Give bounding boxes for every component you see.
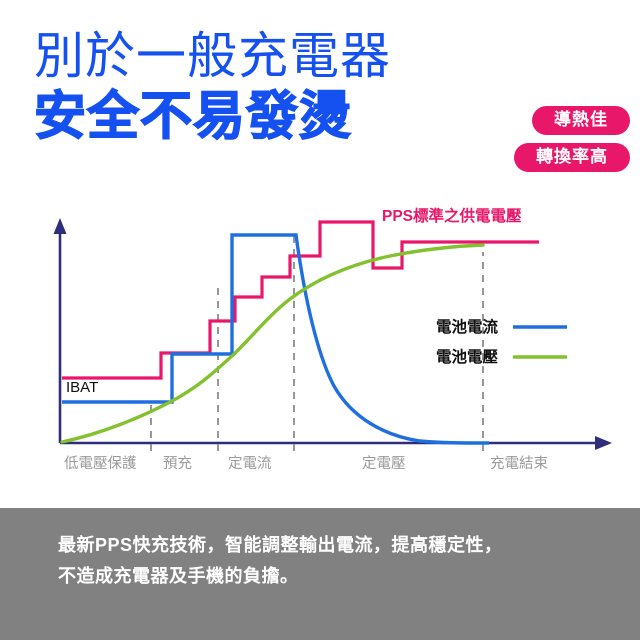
badge-efficiency: 轉換率高 bbox=[514, 143, 630, 172]
headline-line-2: 安全不易發燙 bbox=[34, 88, 504, 146]
headline-line-1: 別於一般充電器 bbox=[34, 28, 504, 84]
stage-label-cc: 定電流 bbox=[228, 455, 272, 472]
legend-label-voltage: 電池電壓 bbox=[436, 347, 499, 366]
ibat-label: IBAT bbox=[66, 379, 98, 396]
series-battery-voltage bbox=[62, 245, 483, 442]
caption-line-2: 不造成充電器及手機的負擔。 bbox=[58, 561, 598, 592]
stage-label-low-voltage: 低電壓保護 bbox=[64, 455, 137, 472]
headline-block: 別於一般充電器 安全不易發燙 bbox=[34, 28, 504, 146]
stage-label-cv: 定電壓 bbox=[362, 455, 406, 472]
pps-annotation-label: PPS標準之供電電壓 bbox=[382, 206, 522, 225]
chart-legend: 電池電流 電池電壓 bbox=[436, 317, 567, 366]
badge-thermal: 導熱佳 bbox=[532, 106, 630, 135]
legend-label-current: 電池電流 bbox=[436, 317, 499, 336]
caption-text: 最新PPS快充技術，智能調整輸出電流，提高穩定性， 不造成充電器及手機的負擔。 bbox=[58, 530, 598, 592]
stage-labels: 低電壓保護 預充 定電流 定電壓 充電結束 bbox=[64, 455, 548, 472]
infographic-root: 別於一般充電器 安全不易發燙 導熱佳 轉換率高 IBAT P bbox=[0, 0, 640, 640]
stage-label-complete: 充電結束 bbox=[490, 455, 548, 472]
badge-list: 導熱佳 轉換率高 bbox=[514, 106, 630, 172]
caption-line-1: 最新PPS快充技術，智能調整輸出電流，提高穩定性， bbox=[58, 530, 598, 561]
series-battery-current bbox=[62, 235, 489, 443]
stage-label-precharge: 預充 bbox=[163, 455, 192, 472]
chart-axes bbox=[54, 218, 613, 450]
charging-curve-chart: IBAT PPS標準之供電電壓 電池電流 電池電壓 低電壓保護 預充 定電流 定… bbox=[0, 196, 640, 496]
